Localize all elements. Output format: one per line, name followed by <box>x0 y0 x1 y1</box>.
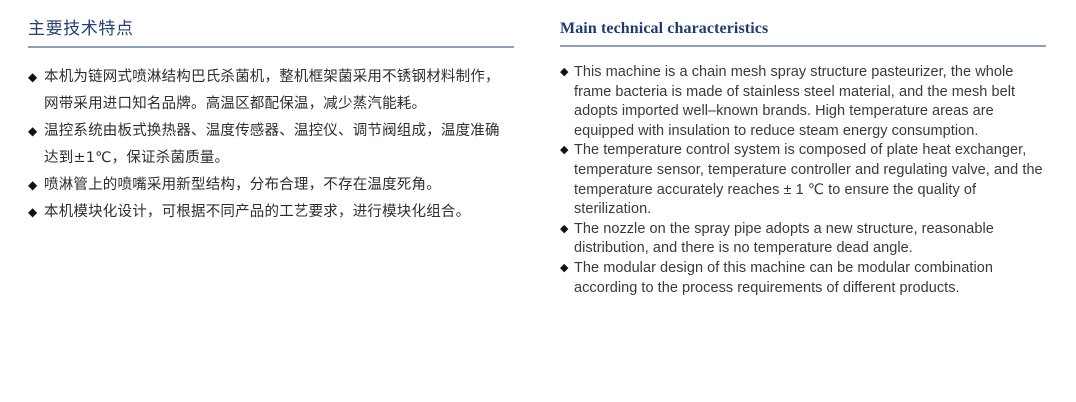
list-item-text: 温控系统由板式换热器、温度传感器、温控仪、调节阀组成，温度准确达到±1℃，保证杀… <box>44 123 500 166</box>
left-feature-list: ◆ 本机为链网式喷淋结构巴氏杀菌机，整机框架菌采用不锈钢材料制作，网带采用进口知… <box>28 64 514 226</box>
left-heading-block: 主要技术特点 <box>28 0 514 48</box>
list-item-text: 本机为链网式喷淋结构巴氏杀菌机，整机框架菌采用不锈钢材料制作，网带采用进口知名品… <box>44 69 500 112</box>
diamond-bullet-icon: ◆ <box>560 63 569 83</box>
diamond-bullet-icon: ◆ <box>28 172 37 199</box>
list-item-text: This machine is a chain mesh spray struc… <box>574 64 1015 139</box>
diamond-bullet-icon: ◆ <box>28 118 37 145</box>
list-item: ◆ 本机为链网式喷淋结构巴氏杀菌机，整机框架菌采用不锈钢材料制作，网带采用进口知… <box>28 64 514 118</box>
diamond-bullet-icon: ◆ <box>560 141 569 161</box>
list-item: ◆ The nozzle on the spray pipe adopts a … <box>560 220 1046 259</box>
right-heading-divider <box>560 45 1046 47</box>
list-item-text: 本机模块化设计，可根据不同产品的工艺要求，进行模块化组合。 <box>44 204 470 220</box>
right-heading-block: Main technical characteristics <box>560 0 1046 47</box>
list-item: ◆ 喷淋管上的喷嘴采用新型结构，分布合理，不存在温度死角。 <box>28 172 514 199</box>
list-item: ◆ 本机模块化设计，可根据不同产品的工艺要求，进行模块化组合。 <box>28 199 514 226</box>
right-column-english: Main technical characteristics ◆ This ma… <box>560 0 1046 298</box>
list-item: ◆ This machine is a chain mesh spray str… <box>560 63 1046 141</box>
diamond-bullet-icon: ◆ <box>28 199 37 226</box>
list-item: ◆ The temperature control system is comp… <box>560 141 1046 219</box>
diamond-bullet-icon: ◆ <box>560 220 569 240</box>
list-item-text: The nozzle on the spray pipe adopts a ne… <box>574 221 994 257</box>
diamond-bullet-icon: ◆ <box>560 259 569 279</box>
left-column-chinese: 主要技术特点 ◆ 本机为链网式喷淋结构巴氏杀菌机，整机框架菌采用不锈钢材料制作，… <box>28 0 514 226</box>
page-root: 主要技术特点 ◆ 本机为链网式喷淋结构巴氏杀菌机，整机框架菌采用不锈钢材料制作，… <box>0 0 1076 402</box>
right-feature-list: ◆ This machine is a chain mesh spray str… <box>560 63 1046 298</box>
list-item-text: The temperature control system is compos… <box>574 142 1043 217</box>
right-column-heading: Main technical characteristics <box>560 18 1046 45</box>
diamond-bullet-icon: ◆ <box>28 64 37 91</box>
left-column-heading: 主要技术特点 <box>28 18 514 46</box>
list-item: ◆ The modular design of this machine can… <box>560 259 1046 298</box>
list-item-text: The modular design of this machine can b… <box>574 260 993 296</box>
list-item: ◆ 温控系统由板式换热器、温度传感器、温控仪、调节阀组成，温度准确达到±1℃，保… <box>28 118 514 172</box>
left-heading-divider <box>28 46 514 48</box>
list-item-text: 喷淋管上的喷嘴采用新型结构，分布合理，不存在温度死角。 <box>44 177 441 193</box>
